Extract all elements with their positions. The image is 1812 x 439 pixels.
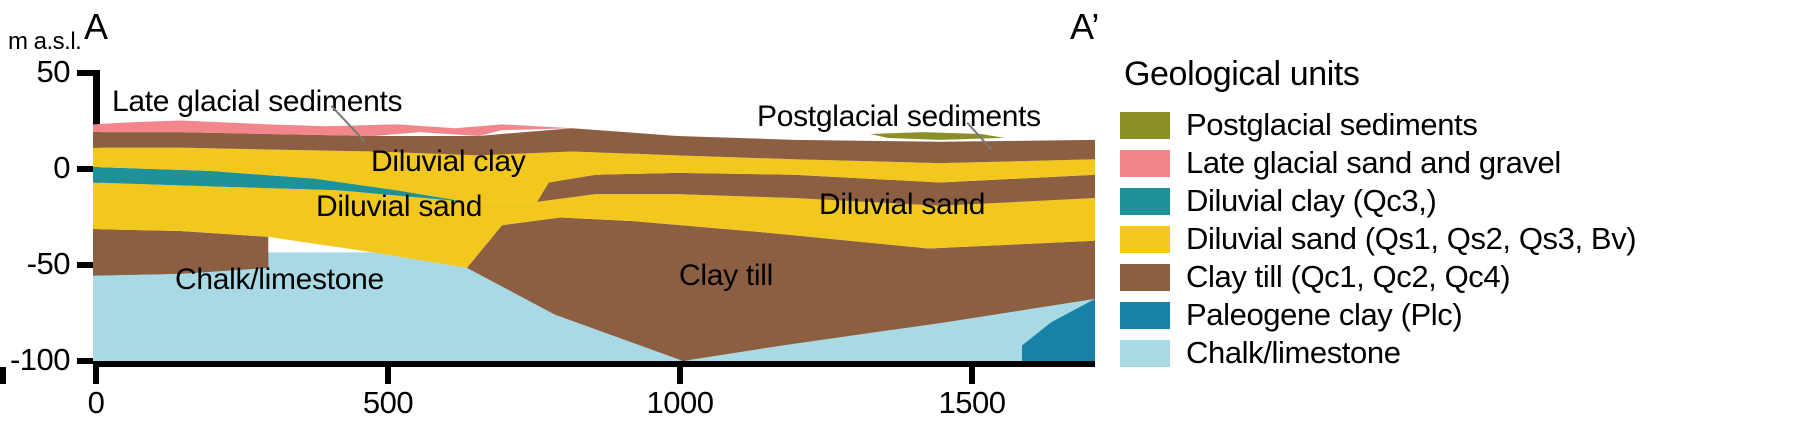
y-tick-label-n50: -50 [0,246,70,282]
y-tick-n100 [77,358,94,364]
annotation-diluvial-clay: Diluvial clay [371,145,525,179]
legend-item-postglacial-sediments[interactable]: Postglacial sediments [1120,106,1810,144]
geological-cross-section-figure: m a.s.l. m A A’ 50 0 -50 -100 0 500 1000… [0,0,1812,439]
legend-item-chalk-limestone[interactable]: Chalk/limestone [1120,334,1810,372]
y-tick-50 [77,70,94,76]
legend-swatch [1120,112,1170,139]
y-tick-label-n100: -100 [0,342,70,378]
x-tick-label-500: 500 [328,385,448,421]
annotation-chalk-limestone: Chalk/limestone [175,263,384,297]
legend: Geological units Postglacial sedimentsLa… [1120,55,1810,372]
legend-item-diluvial-sand-qs1-qs2-qs3-bv[interactable]: Diluvial sand (Qs1, Qs2, Qs3, Bv) [1120,220,1810,258]
y-axis-unit-label: m a.s.l. [8,28,81,56]
legend-swatch [1120,302,1170,329]
y-tick-0 [77,166,94,172]
legend-label: Clay till (Qc1, Qc2, Qc4) [1186,259,1510,295]
legend-swatch [1120,340,1170,367]
legend-label: Chalk/limestone [1186,335,1401,371]
legend-swatch [1120,150,1170,177]
legend-label: Late glacial sand and gravel [1186,145,1561,181]
legend-item-late-glacial-sand-and-gravel[interactable]: Late glacial sand and gravel [1120,144,1810,182]
y-tick-label-50: 50 [0,54,70,90]
x-tick-label-0: 0 [36,385,156,421]
section-end-label: A’ [1070,6,1099,48]
legend-title: Geological units [1124,55,1810,94]
x-tick-1000 [677,367,683,384]
annotation-clay-till: Clay till [679,259,773,293]
annotation-postglacial-sediments: Postglacial sediments [757,100,1041,134]
x-tick-1500 [969,367,975,384]
x-tick-label-1500: 1500 [912,385,1032,421]
annotation-diluvial-sand-right: Diluvial sand [819,188,985,222]
legend-label: Paleogene clay (Plc) [1186,297,1462,333]
x-tick-500 [0,367,6,384]
y-tick-n50 [77,262,94,268]
annotation-late-glacial-sediments: Late glacial sediments [112,85,402,119]
legend-label: Diluvial clay (Qc3,) [1186,183,1436,219]
legend-swatch [1120,188,1170,215]
annotation-diluvial-sand-left: Diluvial sand [316,190,482,224]
legend-label: Postglacial sediments [1186,107,1477,143]
x-tick-500 [385,367,391,384]
legend-swatch [1120,264,1170,291]
section-start-label: A [84,6,108,48]
legend-item-paleogene-clay-plc[interactable]: Paleogene clay (Plc) [1120,296,1810,334]
x-axis-line [93,360,1095,367]
legend-item-diluvial-clay-qc3[interactable]: Diluvial clay (Qc3,) [1120,182,1810,220]
x-tick-0 [93,367,99,384]
legend-label: Diluvial sand (Qs1, Qs2, Qs3, Bv) [1186,221,1636,257]
legend-item-clay-till-qc1-qc2-qc4[interactable]: Clay till (Qc1, Qc2, Qc4) [1120,258,1810,296]
x-tick-label-1000: 1000 [620,385,740,421]
legend-swatch [1120,226,1170,253]
y-tick-label-0: 0 [0,150,70,186]
